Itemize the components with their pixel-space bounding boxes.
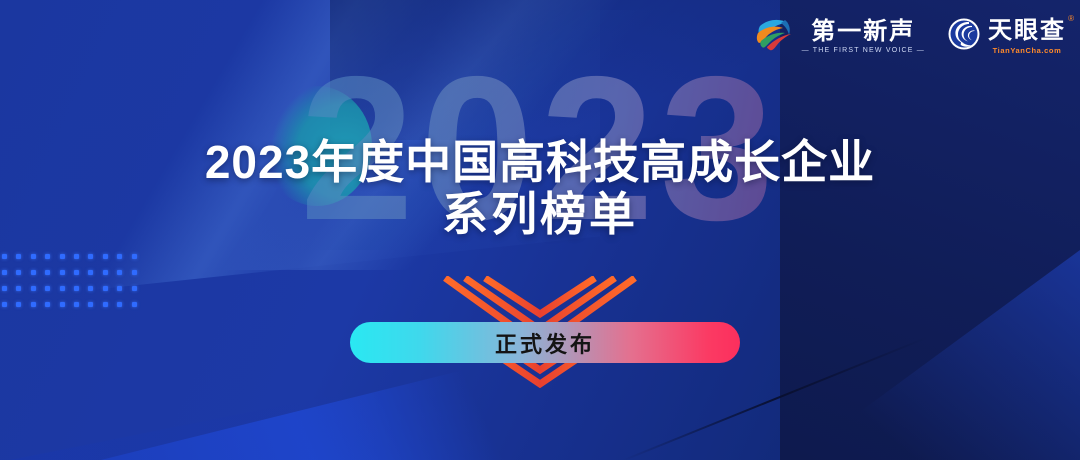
logo-tianyancha-domain: TianYanCha.com (993, 46, 1062, 55)
dot (103, 270, 108, 275)
dot (31, 270, 36, 275)
release-status-label: 正式发布 (495, 327, 595, 359)
dot (45, 286, 50, 291)
dot (74, 286, 79, 291)
dot (45, 302, 50, 307)
dot (103, 302, 108, 307)
dot (88, 254, 93, 259)
logo-tianyancha[interactable]: 天眼查 ® TianYanCha.com (947, 17, 1066, 56)
logo-tianyancha-text: 天眼查 ® TianYanCha.com (988, 18, 1066, 54)
dot (31, 302, 36, 307)
dot (132, 302, 137, 307)
dot (45, 270, 50, 275)
dot (60, 270, 65, 275)
dot (132, 286, 137, 291)
dot (132, 270, 137, 275)
dot (88, 286, 93, 291)
dot (117, 254, 122, 259)
dot (103, 254, 108, 259)
dot (117, 270, 122, 275)
page-title: 2023年度中国高科技高成长企业 系列榜单 (0, 138, 1080, 244)
dot (103, 286, 108, 291)
logo-bar: 第一新声 — THE FIRST NEW VOICE — 天眼查 ® TianY… (755, 14, 1066, 59)
logo-diyixinsheng-text: 第一新声 — THE FIRST NEW VOICE — (802, 19, 925, 53)
release-status-badge[interactable]: 正式发布 (350, 322, 740, 363)
headline-line-1: 2023年度中国高科技高成长企业 (0, 138, 1080, 186)
dot (132, 254, 137, 259)
dot (2, 254, 7, 259)
dot (16, 286, 21, 291)
dot (16, 254, 21, 259)
dot (88, 270, 93, 275)
dot (60, 286, 65, 291)
headline-line-2: 系列榜单 (0, 186, 1080, 244)
logo-diyixinsheng[interactable]: 第一新声 — THE FIRST NEW VOICE — (755, 14, 925, 59)
dot (60, 254, 65, 259)
dot (2, 286, 7, 291)
registered-trademark-icon: ® (1068, 14, 1074, 23)
decorative-dot-grid (2, 248, 146, 312)
dot (45, 254, 50, 259)
dot (117, 286, 122, 291)
dot (2, 302, 7, 307)
logo-diyixinsheng-tagline: — THE FIRST NEW VOICE — (802, 47, 925, 54)
dot (16, 270, 21, 275)
dot (16, 302, 21, 307)
dot (74, 270, 79, 275)
dot (74, 254, 79, 259)
dot (2, 270, 7, 275)
promo-banner: 2023 2023年度中国高科技高成长企业 系列榜单 正式发布 (0, 0, 1080, 460)
dot (31, 254, 36, 259)
dot (74, 302, 79, 307)
dot (88, 302, 93, 307)
dot (31, 286, 36, 291)
logo-diyixinsheng-name: 第一新声 (811, 19, 915, 44)
swirl-ribbon-icon (755, 14, 795, 59)
eye-lens-icon (947, 17, 981, 56)
dot (117, 302, 122, 307)
dot (60, 302, 65, 307)
logo-tianyancha-name: 天眼查 (988, 18, 1066, 43)
